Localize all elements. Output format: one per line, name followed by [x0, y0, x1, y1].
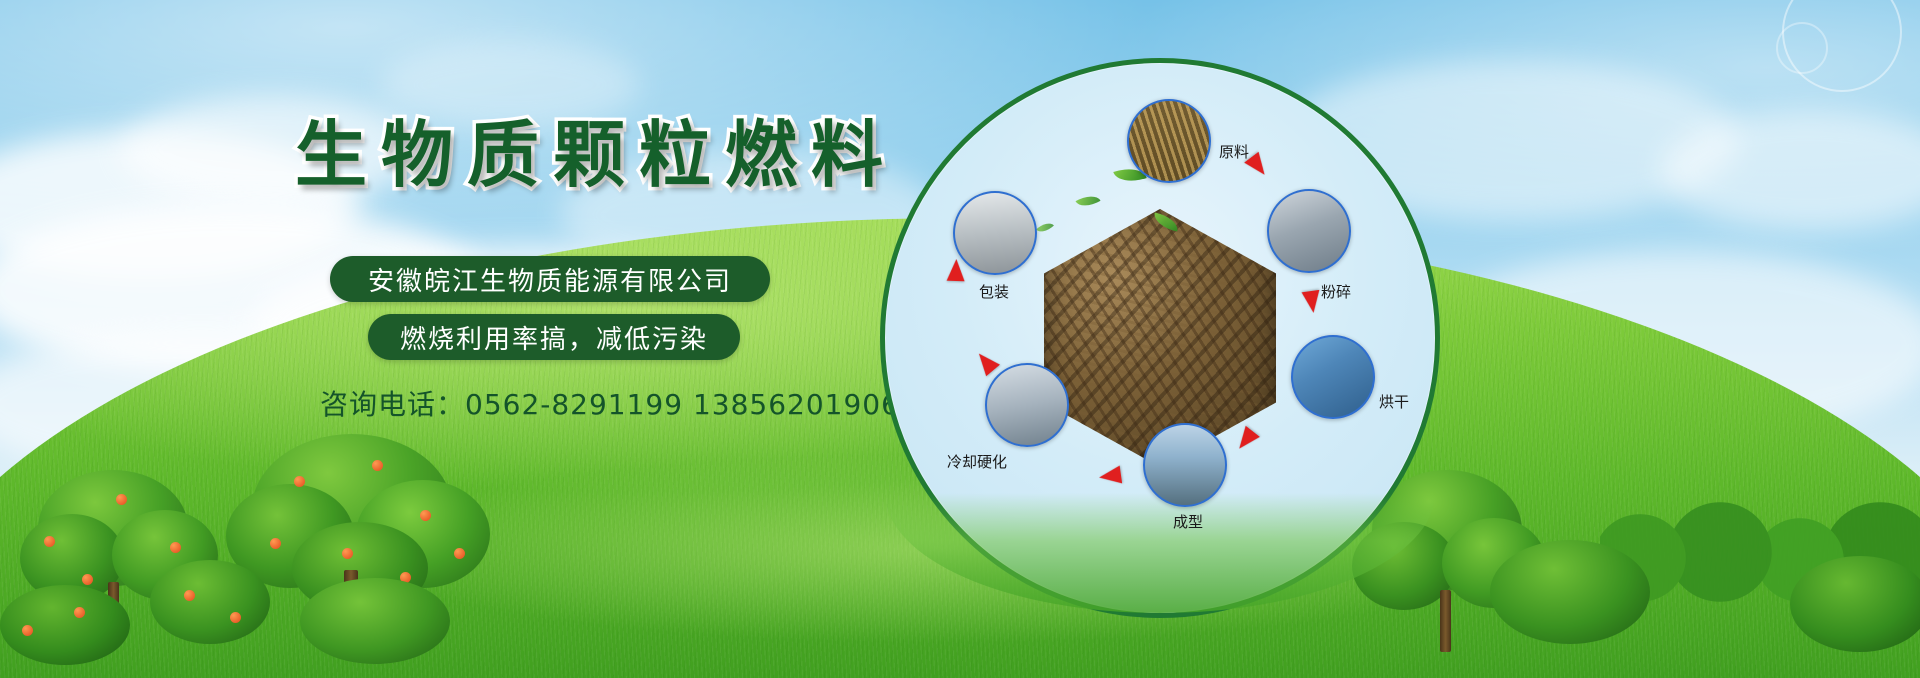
slogan-label: 燃烧利用率搞，减低污染: [400, 319, 708, 356]
packaging-bags-photo: [953, 191, 1037, 275]
company-name-label: 安徽皖江生物质能源有限公司: [368, 261, 732, 298]
process-node-packaging[interactable]: 包装: [953, 191, 1037, 275]
dryer-machine-photo: [1291, 335, 1375, 419]
process-node-raw-material[interactable]: 原料: [1127, 99, 1211, 183]
cooling-hardening-equipment-photo: [985, 363, 1069, 447]
banner-copy-block: 生物质颗粒燃料 安徽皖江生物质能源有限公司 燃烧利用率搞，减低污染 咨询电话：0…: [0, 0, 960, 678]
process-node-forming[interactable]: 成型: [1143, 423, 1227, 507]
process-node-drying[interactable]: 烘干: [1291, 335, 1375, 419]
flow-arrow-icon: [1098, 466, 1122, 487]
process-node-cooling-hardening[interactable]: 冷却硬化: [985, 363, 1069, 447]
promotional-banner: 生物质颗粒燃料 安徽皖江生物质能源有限公司 燃烧利用率搞，减低污染 咨询电话：0…: [0, 0, 1920, 678]
bokeh-ring-decoration: [1776, 22, 1828, 74]
production-process-diagram: 原料 粉碎 烘干 成型 冷却硬化 包装: [880, 58, 1440, 618]
flow-arrow-icon: [1302, 290, 1323, 314]
process-node-label: 成型: [1173, 511, 1203, 532]
raw-material-straw-photo: [1127, 99, 1211, 183]
tree-right-2: [1490, 540, 1650, 678]
process-node-crushing[interactable]: 粉碎: [1267, 189, 1351, 273]
process-node-label: 包装: [979, 281, 1009, 302]
process-node-label: 烘干: [1379, 391, 1409, 412]
process-node-label: 原料: [1219, 141, 1249, 162]
pellet-mill-workshop-photo: [1143, 423, 1227, 507]
tree-trunk: [1440, 590, 1451, 652]
slogan-badge: 燃烧利用率搞，减低污染: [368, 314, 740, 360]
contact-phone-line[interactable]: 咨询电话：0562-8291199 13856201906: [320, 383, 900, 423]
tree-canopy: [1790, 556, 1920, 652]
process-node-label: 冷却硬化: [947, 451, 1007, 472]
tree-right-3: [1790, 556, 1920, 678]
crusher-machine-photo: [1267, 189, 1351, 273]
process-node-label: 粉碎: [1321, 281, 1351, 302]
tree-canopy: [1490, 540, 1650, 644]
company-name-badge: 安徽皖江生物质能源有限公司: [330, 256, 770, 302]
page-title: 生物质颗粒燃料: [295, 96, 897, 201]
